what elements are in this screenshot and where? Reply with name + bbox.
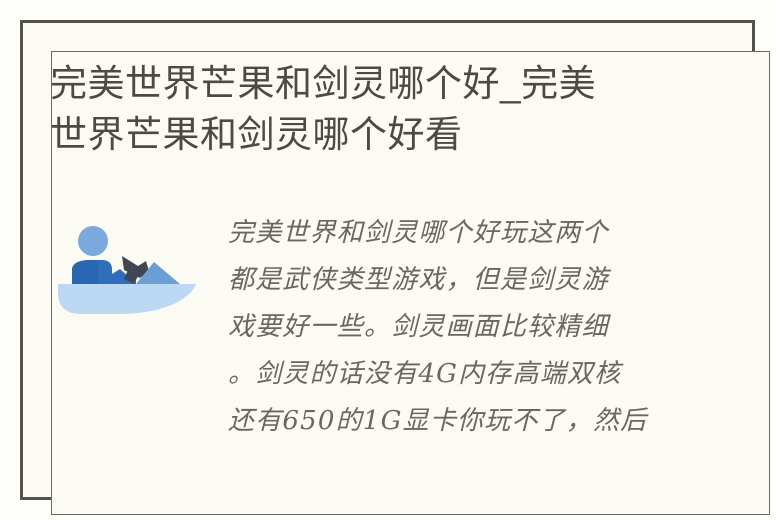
page-title-line-2: 世界芒果和剑灵哪个好看 (50, 109, 680, 160)
page-root: 完美世界芒果和剑灵哪个好_完美 世界芒果和剑灵哪个好看 完美世界和剑灵哪个好玩这… (0, 0, 777, 520)
person-in-boat-illustration (50, 200, 210, 322)
boat-icon (50, 222, 202, 322)
article-body-line: 。剑灵的话没有4G内存高端双核 (228, 351, 690, 398)
head-shape (78, 226, 108, 256)
article-body-line: 戏要好一些。剑灵画面比较精细 (228, 304, 690, 351)
article-body-line: 完美世界和剑灵哪个好玩这两个 (228, 210, 690, 257)
hull-shape (58, 284, 196, 314)
torso-shape (72, 260, 98, 284)
page-title-line-1: 完美世界芒果和剑灵哪个好_完美 (50, 58, 680, 109)
article-body-line: 还有650的1G显卡你玩不了，然后 (228, 398, 690, 445)
article-body: 完美世界和剑灵哪个好玩这两个 都是武侠类型游戏，但是剑灵游 戏要好一些。剑灵画面… (210, 200, 690, 445)
page-title: 完美世界芒果和剑灵哪个好_完美 世界芒果和剑灵哪个好看 (50, 58, 680, 160)
article-content-row: 完美世界和剑灵哪个好玩这两个 都是武侠类型游戏，但是剑灵游 戏要好一些。剑灵画面… (50, 200, 690, 445)
article-body-line: 都是武侠类型游戏，但是剑灵游 (228, 257, 690, 304)
